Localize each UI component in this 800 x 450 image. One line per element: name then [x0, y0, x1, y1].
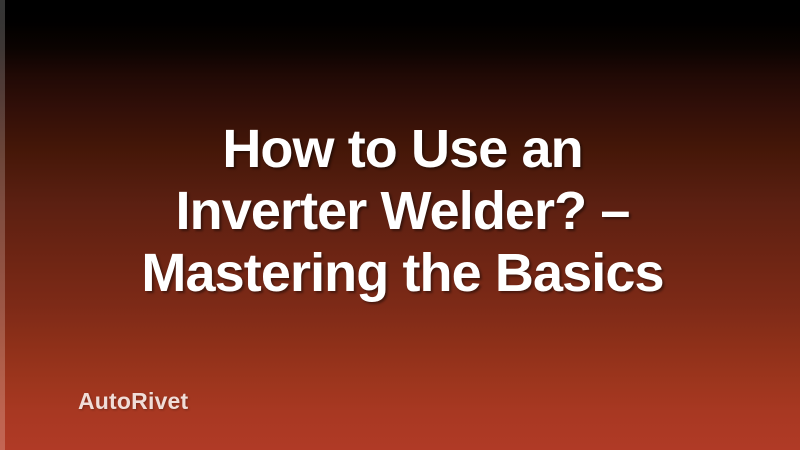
hero-card: How to Use an Inverter Welder? – Masteri…	[0, 0, 800, 450]
title-line-1: How to Use an	[5, 118, 800, 180]
title-line-2: Inverter Welder? –	[5, 180, 800, 242]
brand-name: AutoRivet	[78, 388, 188, 414]
brand[interactable]: AutoRivet	[78, 388, 188, 414]
page-title: How to Use an Inverter Welder? – Masteri…	[0, 118, 800, 304]
title-line-3: Mastering the Basics	[5, 242, 800, 304]
